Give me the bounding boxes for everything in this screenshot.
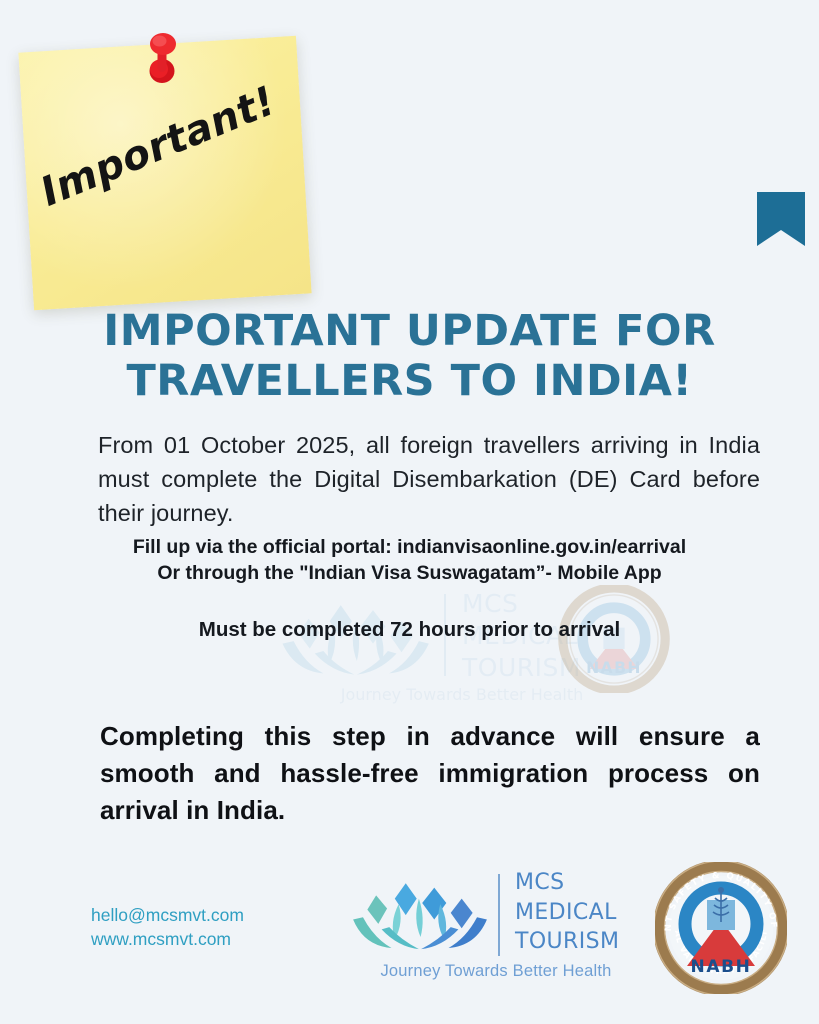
lotus-icon <box>352 870 488 958</box>
portal-instructions: Fill up via the official portal: indianv… <box>0 534 819 586</box>
brand-name-line-3: TOURISM <box>515 927 641 957</box>
nabh-acronym: NABH <box>691 957 752 977</box>
portal-line-2: Or through the "Indian Visa Suswagatam”-… <box>0 560 819 586</box>
closing-paragraph: Completing this step in advance will ens… <box>100 718 760 829</box>
page-title: IMPORTANT UPDATE FOR TRAVELLERS TO INDIA… <box>0 306 819 406</box>
page-title-line-2: TRAVELLERS TO INDIA! <box>0 356 819 406</box>
watermark-tagline: Journey Towards Better Health <box>340 685 584 704</box>
brand-wordmark: MCS MEDICAL TOURISM <box>515 868 641 957</box>
logo-divider <box>498 874 500 956</box>
brand-tagline: Journey Towards Better Health <box>352 962 640 981</box>
brand-name-line-2: MEDICAL <box>515 898 641 928</box>
svg-text:NABH: NABH <box>586 658 642 677</box>
contact-email[interactable]: hello@mcsmvt.com <box>91 903 244 927</box>
bookmark-icon <box>757 192 805 246</box>
brand-name-line-1: MCS <box>515 868 641 898</box>
pushpin-icon <box>140 28 184 94</box>
contact-website[interactable]: www.mcsmvt.com <box>91 927 244 951</box>
watermark-name-3: TOURISM <box>461 653 581 682</box>
lead-paragraph: From 01 October 2025, all foreign travel… <box>98 428 760 530</box>
poster-canvas: Important! IMPORTANT UPDATE FOR TRAVELLE… <box>0 0 819 1024</box>
watermark-name-1: MCS <box>462 589 518 618</box>
page-title-line-1: IMPORTANT UPDATE FOR <box>0 306 819 356</box>
contact-block: hello@mcsmvt.com www.mcsmvt.com <box>91 903 244 951</box>
deadline-notice: Must be completed 72 hours prior to arri… <box>0 618 819 642</box>
nabh-seal-icon: ★ PATIENT SAFETY & QUALITY OF CARE ★ MED… <box>655 862 787 994</box>
portal-line-1: Fill up via the official portal: indianv… <box>0 534 819 560</box>
lotus-watermark-icon: MCS MEDICAL TOURISM Journey Towards Bett… <box>262 588 662 706</box>
brand-logo: MCS MEDICAL TOURISM Journey Towards Bett… <box>352 868 640 986</box>
